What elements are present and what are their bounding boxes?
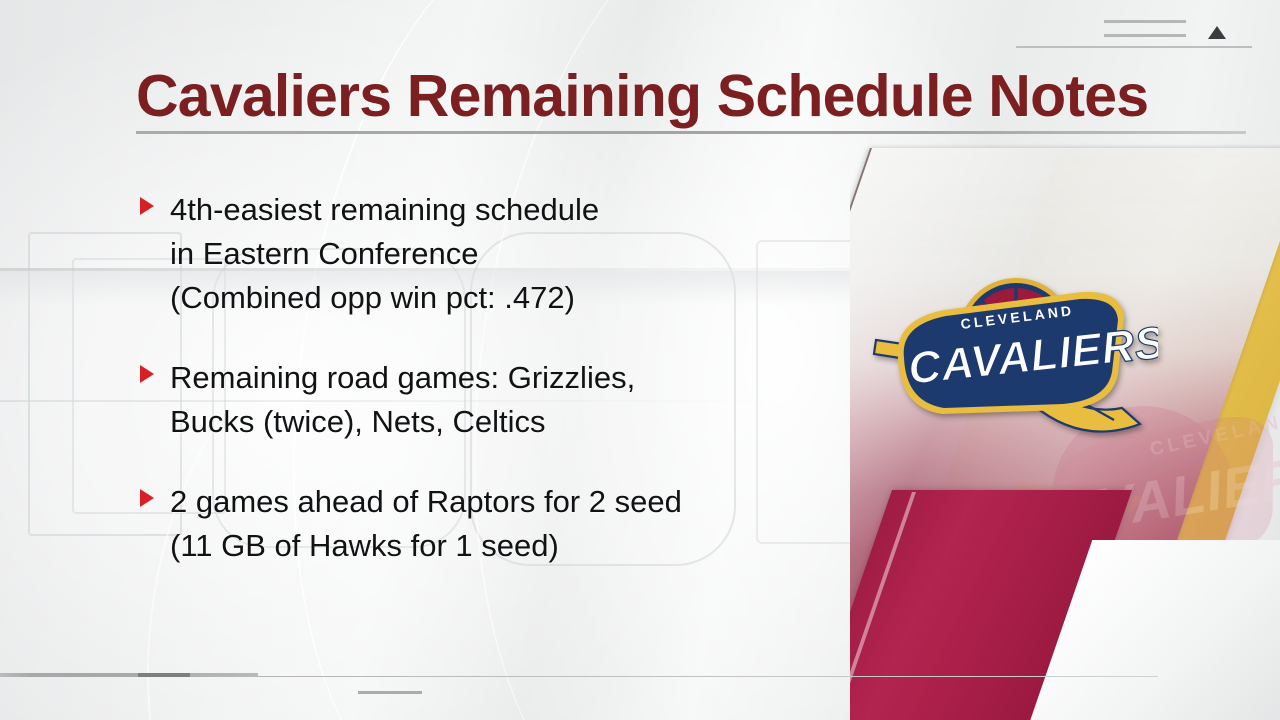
header-dash-1: [1104, 20, 1186, 23]
title-underline: [136, 131, 1246, 134]
broadcast-slide: CLEVELAND CAVALIERS CLEVELAND: [0, 0, 1280, 720]
triangle-right-icon: [140, 489, 154, 507]
footer-bar: [0, 673, 258, 677]
page-title: Cavaliers Remaining Schedule Notes: [136, 62, 1148, 130]
header-dash-2: [1104, 34, 1186, 37]
notes-list: 4th-easiest remaining schedule in Easter…: [140, 188, 860, 604]
footer-bar-segment: [138, 673, 190, 677]
cavaliers-primary-logo: CLEVELAND CAVALIERS: [868, 262, 1158, 442]
list-item: Remaining road games: Grizzlies, Bucks (…: [140, 356, 860, 444]
list-item-text: 4th-easiest remaining schedule in Easter…: [140, 188, 860, 320]
list-item: 2 games ahead of Raptors for 2 seed (11 …: [140, 480, 860, 568]
header-underline: [1016, 46, 1252, 48]
triangle-right-icon: [140, 197, 154, 215]
header-decoration: [1080, 10, 1250, 50]
triangle-right-icon: [140, 365, 154, 383]
list-item: 4th-easiest remaining schedule in Easter…: [140, 188, 860, 320]
list-item-text: 2 games ahead of Raptors for 2 seed (11 …: [140, 480, 860, 568]
list-item-text: Remaining road games: Grizzlies, Bucks (…: [140, 356, 860, 444]
triangle-up-icon: [1208, 26, 1226, 39]
footer-dash: [358, 691, 422, 694]
